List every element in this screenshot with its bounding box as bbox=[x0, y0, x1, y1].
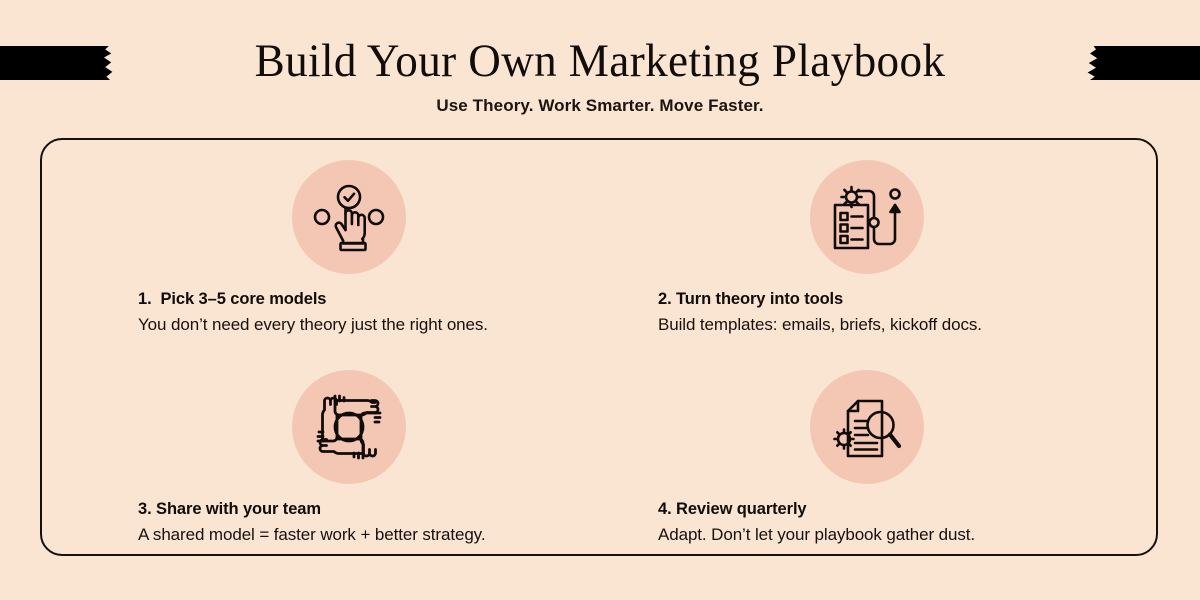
document-magnifier-gear-icon bbox=[827, 387, 907, 467]
step-2-description: Build templates: emails, briefs, kickoff… bbox=[658, 315, 1088, 335]
step-item-3: 3. Share with your team A shared model =… bbox=[40, 348, 600, 558]
step-item-4: 4. Review quarterly Adapt. Don’t let you… bbox=[600, 348, 1160, 558]
step-4-title: 4. Review quarterly bbox=[658, 500, 1088, 519]
step-3-title: 3. Share with your team bbox=[138, 500, 568, 519]
step-3-description: A shared model = faster work + better st… bbox=[138, 525, 568, 545]
step-2-icon-badge bbox=[810, 160, 924, 274]
step-1-title: 1. Pick 3–5 core models bbox=[138, 290, 568, 309]
step-1-description: You don’t need every theory just the rig… bbox=[138, 315, 568, 335]
page-subtitle: Use Theory. Work Smarter. Move Faster. bbox=[0, 96, 1200, 116]
steps-grid: 1. Pick 3–5 core models You don’t need e… bbox=[40, 138, 1160, 558]
page-header: Build Your Own Marketing Playbook Use Th… bbox=[0, 0, 1200, 132]
checklist-gear-workflow-icon bbox=[827, 177, 907, 257]
step-4-icon-badge bbox=[810, 370, 924, 484]
hand-pointing-check-icon bbox=[309, 177, 389, 257]
step-1-icon-badge bbox=[292, 160, 406, 274]
step-4-description: Adapt. Don’t let your playbook gather du… bbox=[658, 525, 1088, 545]
step-2-text: 2. Turn theory into tools Build template… bbox=[658, 290, 1088, 335]
step-3-icon-badge bbox=[292, 370, 406, 484]
step-3-text: 3. Share with your team A shared model =… bbox=[138, 500, 568, 545]
step-4-text: 4. Review quarterly Adapt. Don’t let you… bbox=[658, 500, 1088, 545]
four-hands-teamwork-icon bbox=[309, 387, 389, 467]
step-1-text: 1. Pick 3–5 core models You don’t need e… bbox=[138, 290, 568, 335]
step-2-title: 2. Turn theory into tools bbox=[658, 290, 1088, 309]
page-title: Build Your Own Marketing Playbook bbox=[24, 34, 1176, 88]
step-item-2: 2. Turn theory into tools Build template… bbox=[600, 138, 1160, 348]
step-item-1: 1. Pick 3–5 core models You don’t need e… bbox=[40, 138, 600, 348]
